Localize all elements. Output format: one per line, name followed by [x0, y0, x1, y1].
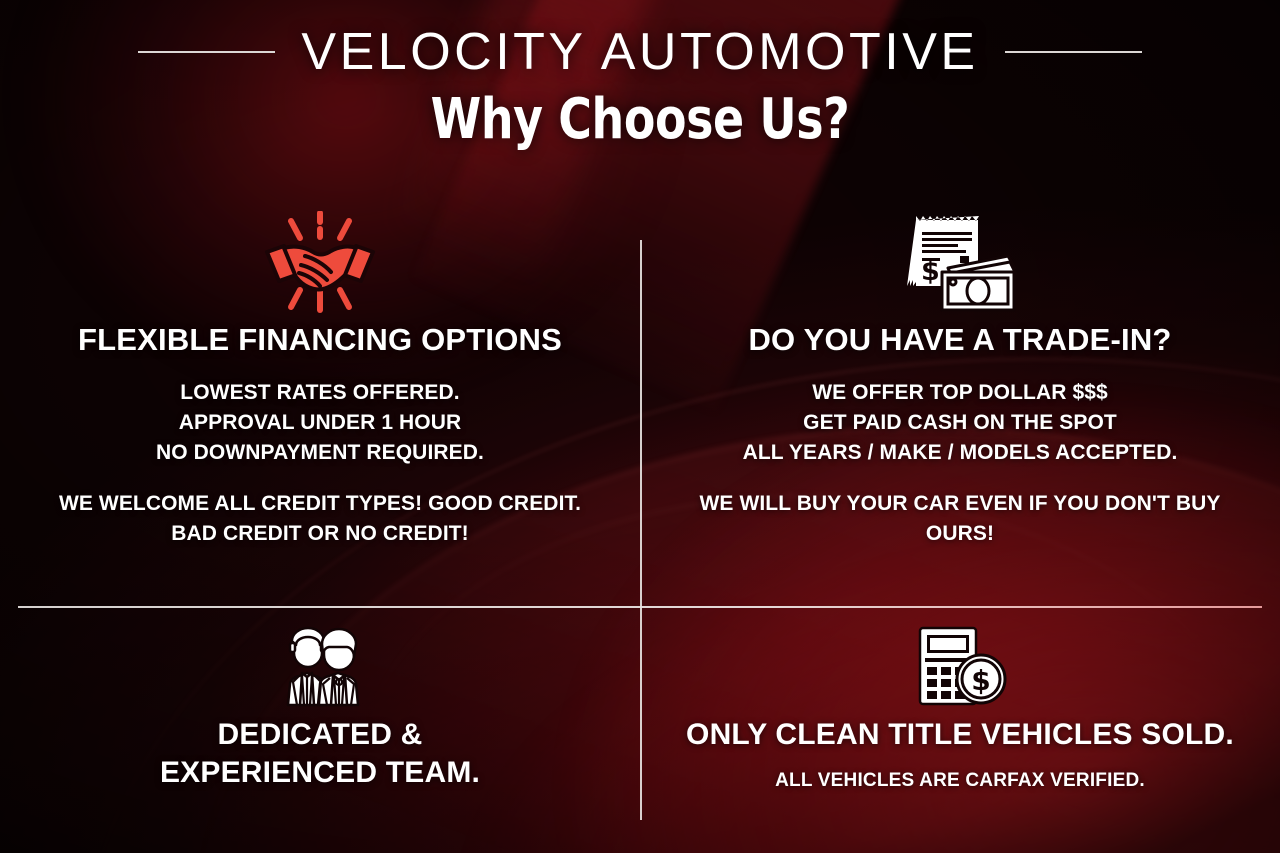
feature-line: GET PAID CASH ON THE SPOT [666, 408, 1254, 438]
banner-header: VELOCITY AUTOMOTIVE Why Choose Us? [0, 26, 1280, 148]
brand-title: VELOCITY AUTOMOTIVE [301, 26, 978, 78]
feature-note: ALL VEHICLES ARE CARFAX VERIFIED. [666, 770, 1254, 792]
brand-rule-left-icon [138, 51, 275, 53]
feature-title-line-1: DEDICATED & [26, 716, 614, 754]
brand-row: VELOCITY AUTOMOTIVE [0, 26, 1280, 78]
feature-line: LOWEST RATES OFFERED. [26, 378, 614, 408]
brand-rule-right-icon [1005, 51, 1142, 53]
feature-body: LOWEST RATES OFFERED. APPROVAL UNDER 1 H… [26, 378, 614, 549]
feature-line: APPROVAL UNDER 1 HOUR [26, 408, 614, 438]
page-subtitle: Why Choose Us? [115, 92, 1165, 148]
why-choose-us-banner: VELOCITY AUTOMOTIVE Why Choose Us? [0, 0, 1280, 853]
calculator-dollar-icon: $ [666, 618, 1254, 714]
feature-cell-trade-in: $ DO YOU HAVE A TRADE-IN? [640, 208, 1280, 606]
feature-title: DO YOU HAVE A TRADE-IN? [666, 322, 1254, 358]
paragraph-gap [26, 467, 614, 489]
paragraph-gap [666, 467, 1254, 489]
feature-cell-clean-title: $ ONLY CLEAN TITLE VEHICLES SOLD. ALL VE… [640, 606, 1280, 846]
feature-body: WE OFFER TOP DOLLAR $$$ GET PAID CASH ON… [666, 378, 1254, 549]
feature-line: WE OFFER TOP DOLLAR $$$ [666, 378, 1254, 408]
feature-cell-financing: FLEXIBLE FINANCING OPTIONS LOWEST RATES … [0, 208, 640, 606]
svg-text:$: $ [921, 256, 940, 287]
feature-title: FLEXIBLE FINANCING OPTIONS [26, 322, 614, 358]
feature-line: OURS! [666, 519, 1254, 549]
feature-title: DEDICATED & EXPERIENCED TEAM. [26, 716, 614, 793]
feature-line: WE WILL BUY YOUR CAR EVEN IF YOU DON'T B… [666, 489, 1254, 519]
team-people-icon [26, 618, 614, 714]
feature-title: ONLY CLEAN TITLE VEHICLES SOLD. [666, 716, 1254, 754]
feature-line: ALL YEARS / MAKE / MODELS ACCEPTED. [666, 438, 1254, 468]
svg-text:$: $ [971, 664, 990, 697]
feature-cell-team: DEDICATED & EXPERIENCED TEAM. [0, 606, 640, 846]
feature-line: BAD CREDIT OR NO CREDIT! [26, 519, 614, 549]
feature-title-line-2: EXPERIENCED TEAM. [26, 754, 614, 792]
handshake-icon [26, 208, 614, 320]
cash-receipt-icon: $ [666, 208, 1254, 320]
feature-grid: FLEXIBLE FINANCING OPTIONS LOWEST RATES … [0, 208, 1280, 846]
feature-line: WE WELCOME ALL CREDIT TYPES! GOOD CREDIT… [26, 489, 614, 519]
feature-line: NO DOWNPAYMENT REQUIRED. [26, 438, 614, 468]
